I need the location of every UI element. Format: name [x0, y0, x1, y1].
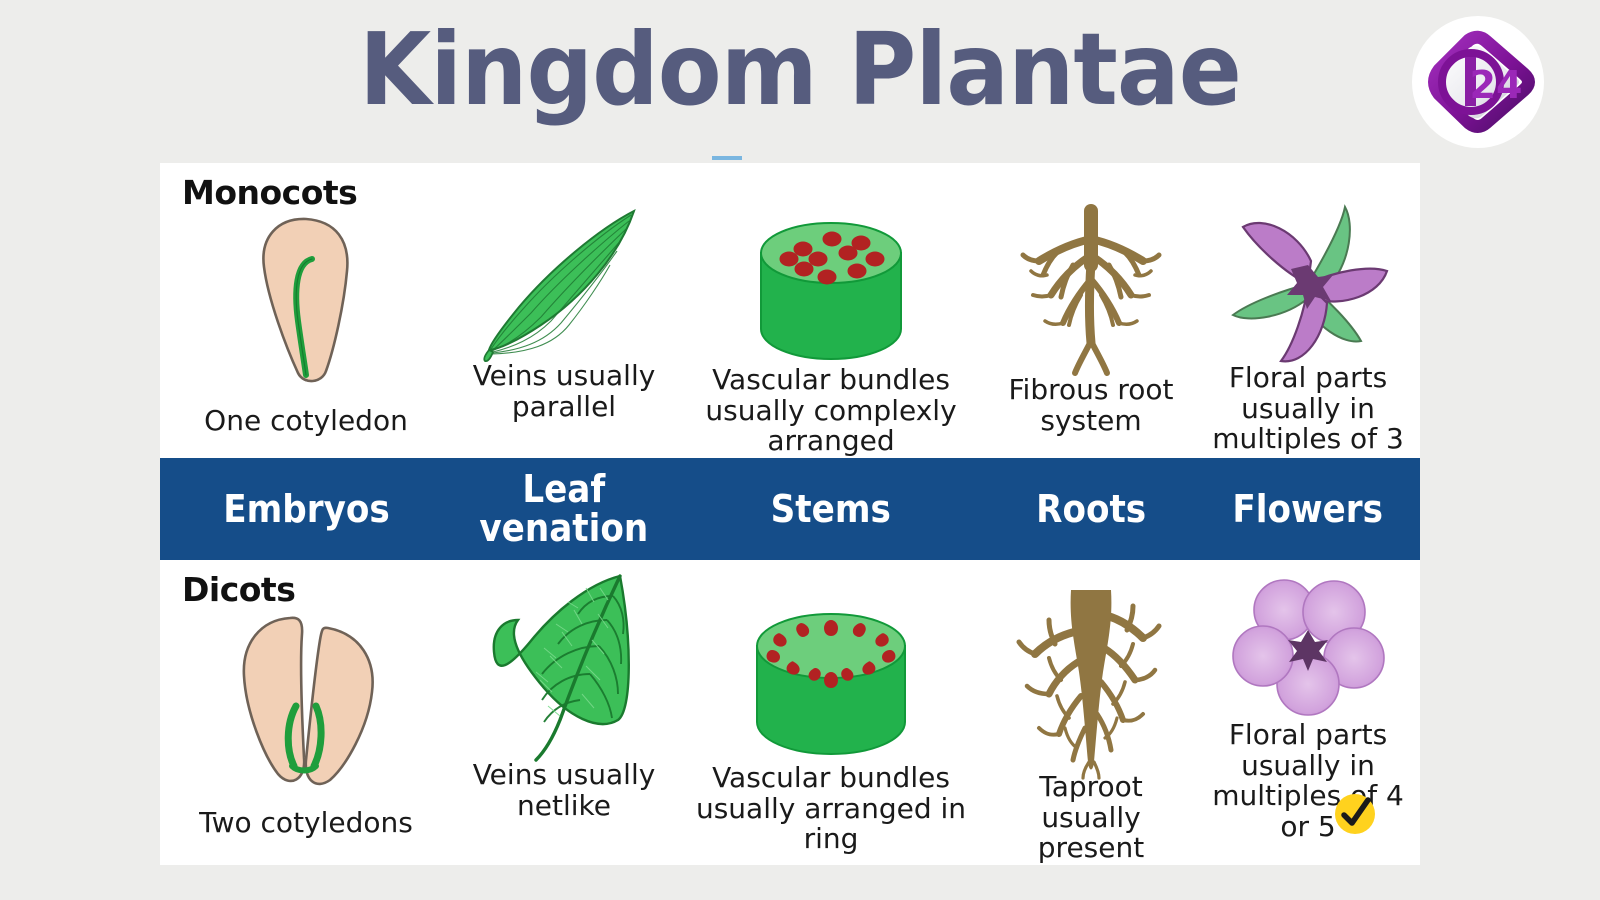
- monocot-stem-cell: Vascular bundles usually complexly arran…: [676, 163, 986, 458]
- dicot-flower-cell: Floral parts usually in multiples of 4 o…: [1196, 560, 1420, 865]
- monocot-root-caption: Fibrous root system: [986, 375, 1196, 436]
- monocot-embryo-cell: One cotyledon: [160, 163, 452, 458]
- band-label-roots: Roots: [1036, 490, 1146, 529]
- fibrous-root-icon: [1011, 203, 1171, 383]
- dicot-root-cell: Taproot usually present: [986, 560, 1196, 865]
- monocot-root-cell: Fibrous root system: [986, 163, 1196, 458]
- channel-logo[interactable]: 24: [1412, 16, 1544, 148]
- seed-two-cotyledons-icon: [224, 608, 389, 788]
- monocot-flower-caption: Floral parts usually in multiples of 3: [1196, 363, 1420, 455]
- leaf-parallel-veins-icon: [479, 203, 649, 363]
- monocot-flower-cell: Floral parts usually in multiples of 3: [1196, 163, 1420, 458]
- band-cell-leaf-venation[interactable]: Leaf venation: [452, 458, 676, 560]
- band-cell-stems[interactable]: Stems: [676, 458, 986, 560]
- band-label-flowers: Flowers: [1233, 490, 1384, 529]
- band-label-stems: Stems: [771, 490, 891, 529]
- dicot-leaf-cell: Veins usually netlike: [452, 560, 676, 865]
- leaf-netlike-veins-icon: [482, 570, 647, 765]
- band-cell-flowers[interactable]: Flowers: [1196, 458, 1420, 560]
- dicot-stem-cell: Vascular bundles usually arranged in rin…: [676, 560, 986, 865]
- monocot-stem-caption: Vascular bundles usually complexly arran…: [676, 365, 986, 457]
- monocot-leaf-cell: Veins usually parallel: [452, 163, 676, 458]
- dicot-embryo-caption: Two cotyledons: [160, 808, 452, 839]
- stem-ring-bundles-icon: [751, 600, 911, 775]
- comparison-card: Monocots One cotyledon: [160, 163, 1420, 865]
- band-cell-roots[interactable]: Roots: [986, 458, 1196, 560]
- dicot-flower-caption: Floral parts usually in multiples of 4 o…: [1196, 720, 1420, 842]
- band-cell-embryos[interactable]: Embryos: [160, 458, 452, 560]
- flower-three-petals-icon: [1223, 199, 1393, 369]
- monocot-row: Monocots One cotyledon: [160, 163, 1420, 458]
- blue-line-artifact: [712, 156, 742, 160]
- seed-one-cotyledon-icon: [246, 213, 366, 388]
- band-label-embryos: Embryos: [223, 490, 390, 529]
- monocot-leaf-caption: Veins usually parallel: [452, 361, 676, 422]
- page-title: Kingdom Plantae: [56, 14, 1544, 126]
- dicot-stem-caption: Vascular bundles usually arranged in rin…: [676, 763, 986, 855]
- monocot-embryo-caption: One cotyledon: [160, 406, 452, 437]
- dicot-row: Dicots Two cotyledons: [160, 560, 1420, 865]
- category-header-band: Embryos Leaf venation Stems Roots Flower…: [160, 458, 1420, 560]
- flower-five-petals-icon: [1228, 572, 1388, 722]
- dicot-leaf-caption: Veins usually netlike: [452, 760, 676, 821]
- logo-24-text: 24: [1470, 63, 1523, 107]
- stem-scattered-bundles-icon: [756, 211, 906, 376]
- taproot-icon: [1011, 586, 1171, 781]
- yellow-check-badge[interactable]: [1332, 791, 1378, 837]
- dicot-root-caption: Taproot usually present: [986, 772, 1196, 864]
- dicot-embryo-cell: Two cotyledons: [160, 560, 452, 865]
- title-bar: Kingdom Plantae: [0, 0, 1600, 163]
- band-label-leaf-venation: Leaf venation: [480, 470, 649, 548]
- check-icon: [1332, 791, 1378, 837]
- play-24-logo-icon: 24: [1412, 16, 1544, 148]
